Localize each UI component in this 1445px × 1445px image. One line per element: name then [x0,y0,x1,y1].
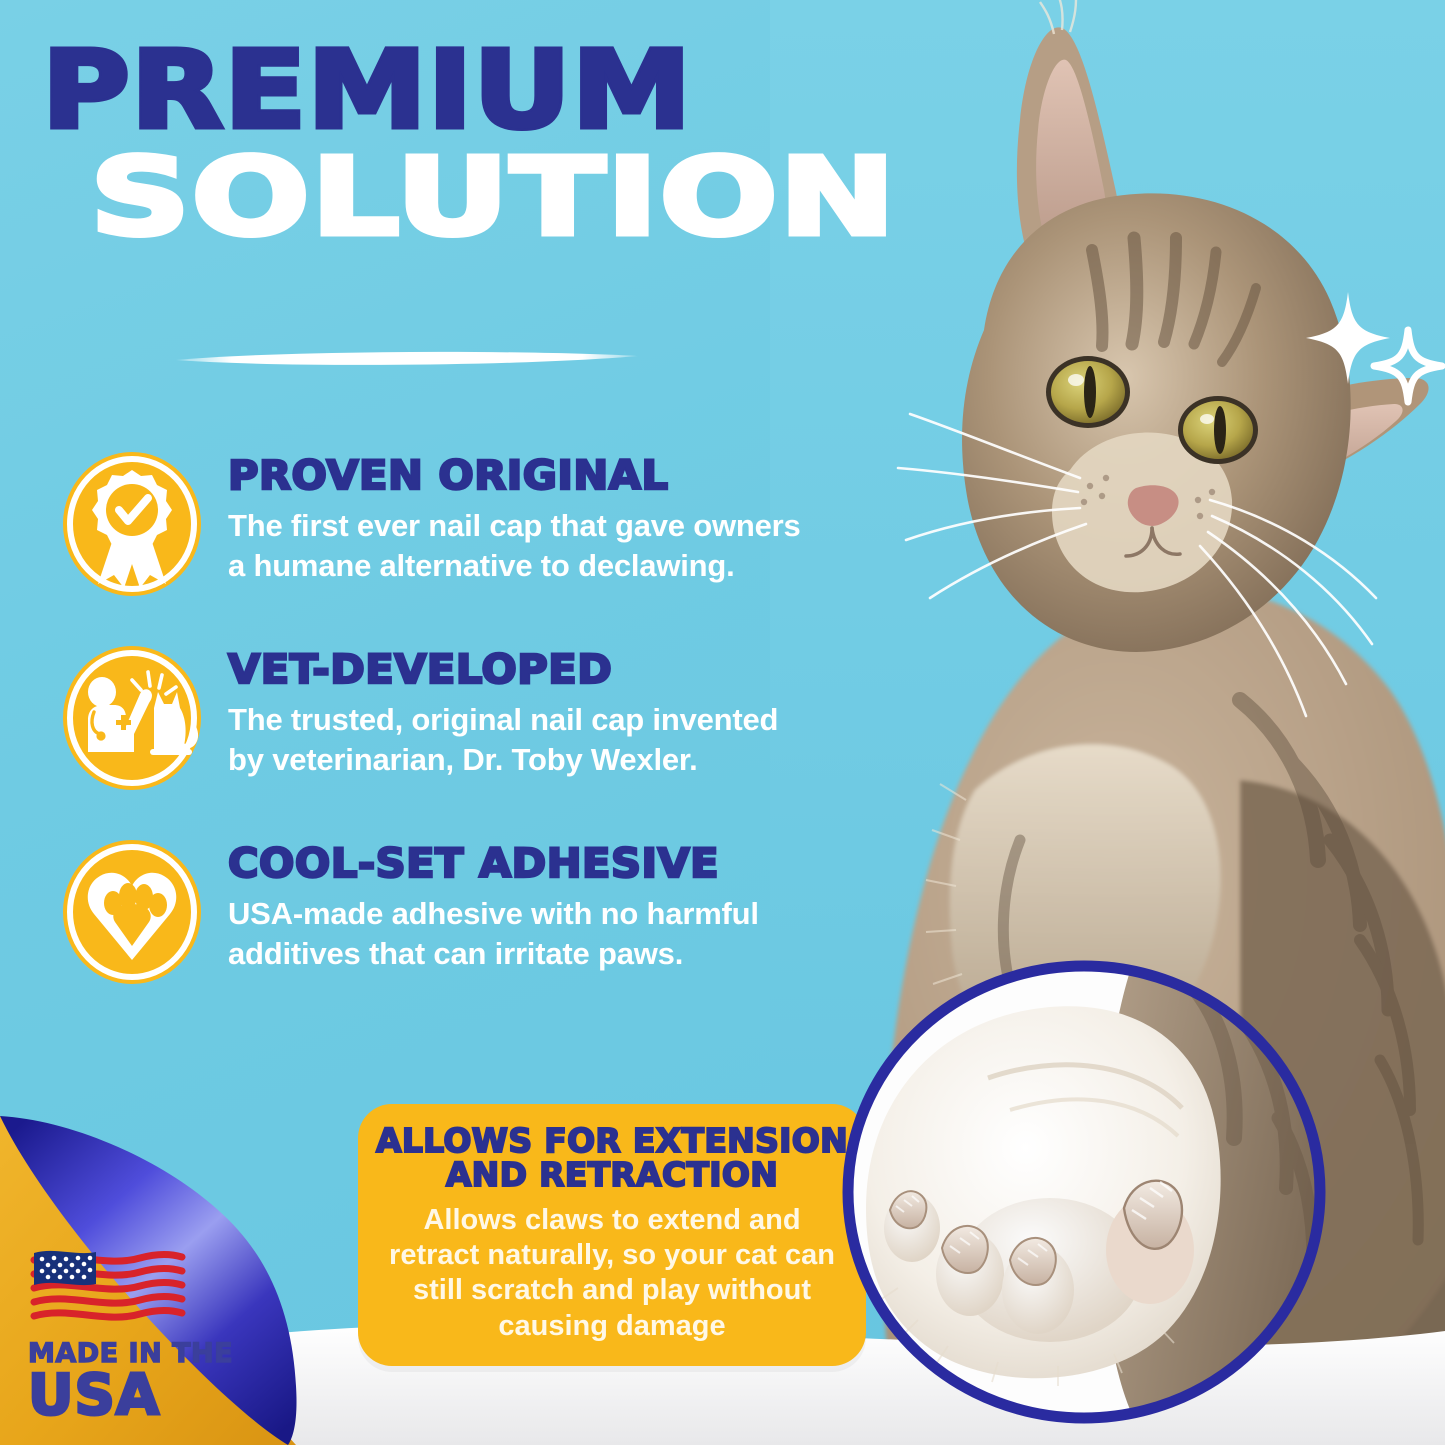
sparkle-icons [1296,286,1445,416]
callout-body: Allows claws to extend and retract natur… [376,1203,848,1345]
feature-item-proven-original: PROVEN ORIGINAL The first ever nail cap … [58,448,818,600]
feature-list: PROVEN ORIGINAL The first ever nail cap … [58,448,818,1030]
callout-title-line-2: AND RETRACTION [376,1158,848,1192]
headline-line-1: PREMIUM [42,42,916,142]
feature-title: PROVEN ORIGINAL [228,456,842,496]
page-title: PREMIUM SOLUTION [42,42,822,249]
feature-title: COOL-SET ADHESIVE [228,844,842,884]
feature-item-vet-developed: VET-DEVELOPED The trusted, original nail… [58,642,818,794]
callout-title-line-1: ALLOWS FOR EXTENSION [376,1124,848,1158]
headline-line-2: SOLUTION [90,148,1042,250]
vet-highfive-cat-icon [58,642,206,794]
heart-paw-icon [58,836,206,988]
feature-body: The first ever nail cap that gave owners… [228,506,818,587]
feature-body: USA-made adhesive with no harmful additi… [228,894,818,975]
award-ribbon-check-icon [58,448,206,600]
feature-item-cool-set-adhesive: COOL-SET ADHESIVE USA-made adhesive with… [58,836,818,988]
cat-paw-closeup-photo [838,958,1330,1426]
extension-retraction-callout: ALLOWS FOR EXTENSION AND RETRACTION Allo… [358,1104,866,1366]
us-flag-icon [28,1244,188,1332]
made-in-usa-badge: MADE IN THE USA [28,1244,238,1422]
infographic-canvas: PREMIUM SOLUTION [0,0,1445,1445]
made-in-usa-line-2: USA [28,1369,238,1422]
title-divider-swoosh [176,348,638,370]
feature-title: VET-DEVELOPED [228,650,842,690]
feature-body: The trusted, original nail cap invented … [228,700,818,781]
